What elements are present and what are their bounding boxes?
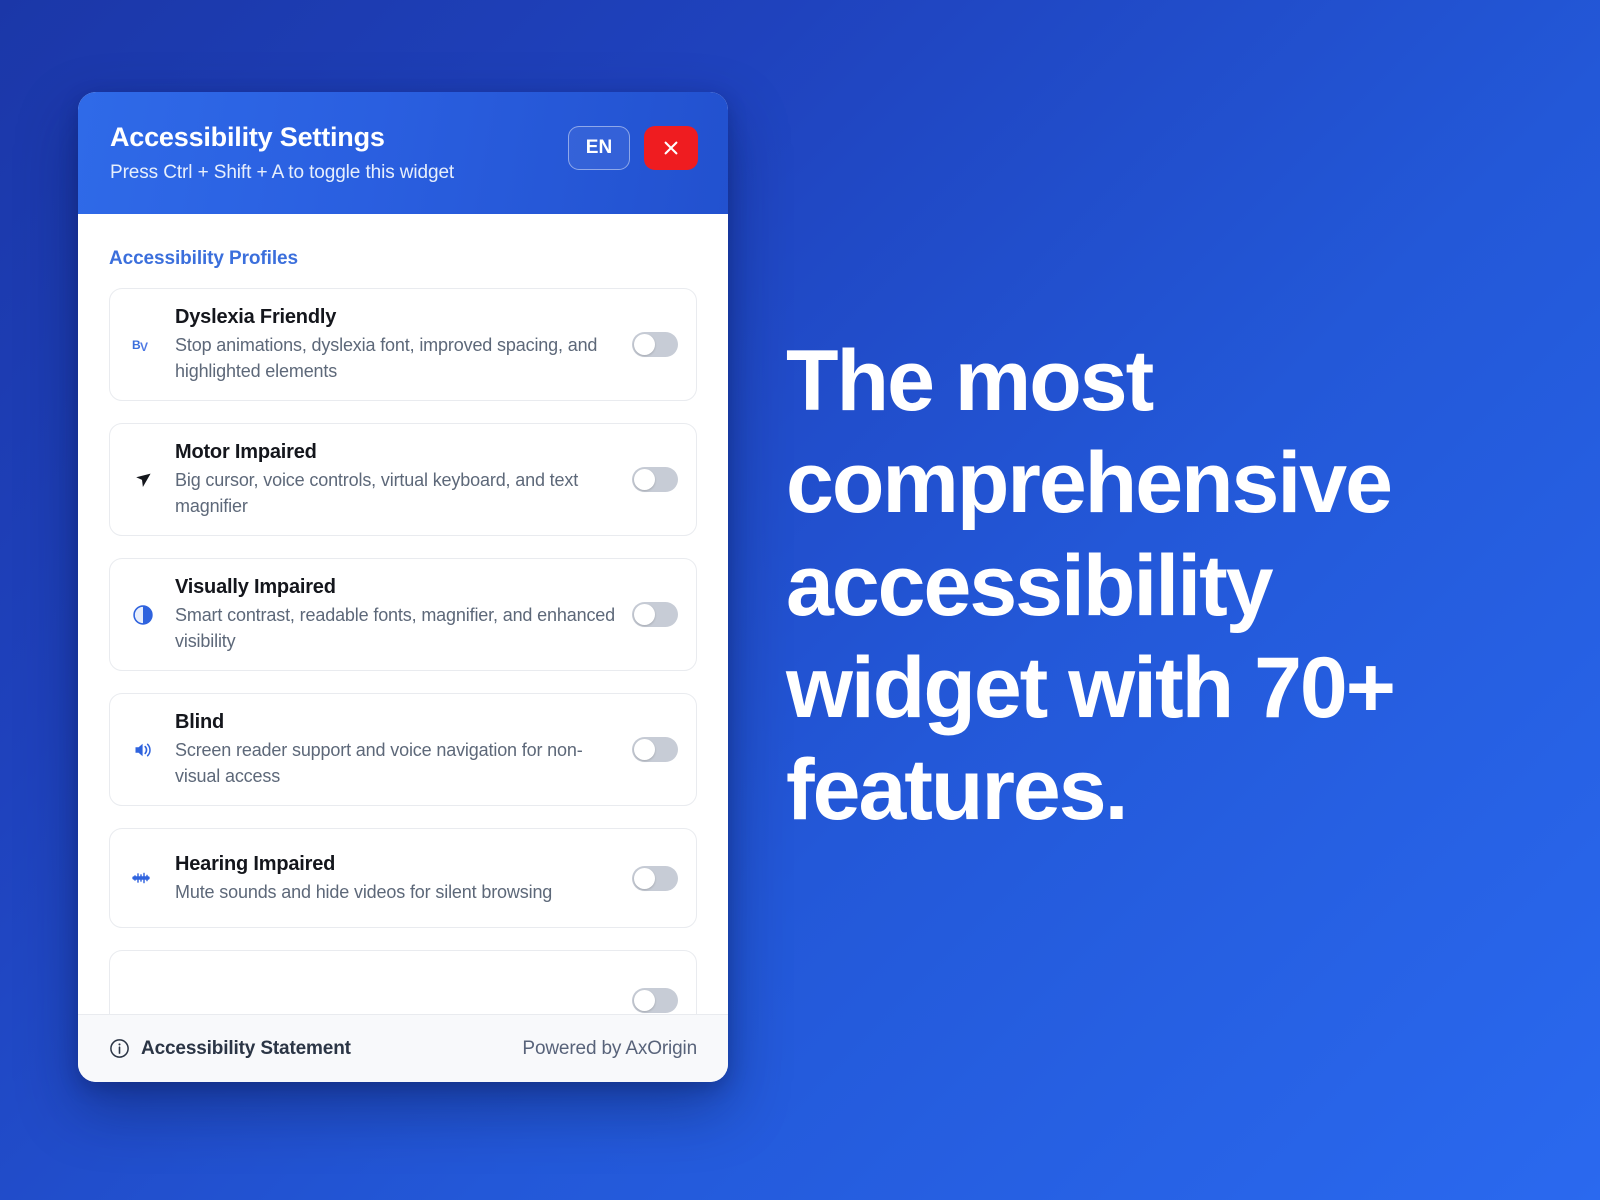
profile-toggle-dyslexia-friendly[interactable] — [632, 332, 678, 357]
widget-header-texts: Accessibility Settings Press Ctrl + Shif… — [110, 120, 454, 184]
toggle-knob — [634, 334, 655, 355]
speaker-volume-icon — [124, 731, 162, 769]
profile-card-hearing-impaired[interactable]: Hearing Impaired Mute sounds and hide vi… — [109, 828, 697, 928]
toggle-knob — [634, 990, 655, 1011]
powered-by-label: Powered by AxOrigin — [522, 1038, 697, 1060]
profile-card-partial[interactable] — [109, 950, 697, 1014]
profile-texts: Visually Impaired Smart contrast, readab… — [162, 575, 632, 654]
profile-description: Screen reader support and voice navigati… — [175, 738, 618, 789]
widget-header-actions: EN — [568, 120, 698, 170]
info-icon — [109, 1038, 130, 1059]
accessibility-widget: Accessibility Settings Press Ctrl + Shif… — [78, 92, 728, 1082]
profile-toggle-visually-impaired[interactable] — [632, 602, 678, 627]
accessibility-statement-label: Accessibility Statement — [141, 1038, 351, 1060]
close-icon — [661, 138, 681, 158]
contrast-circle-icon — [124, 596, 162, 634]
profile-name: Hearing Impaired — [175, 852, 618, 877]
svg-text:V: V — [140, 340, 148, 354]
profile-card-visually-impaired[interactable]: Visually Impaired Smart contrast, readab… — [109, 558, 697, 671]
profile-name: Visually Impaired — [175, 575, 618, 600]
profile-toggle-hearing-impaired[interactable] — [632, 866, 678, 891]
dyslexia-text-icon: B V — [124, 326, 162, 364]
profile-card-dyslexia-friendly[interactable]: B V Dyslexia Friendly Stop animations, d… — [109, 288, 697, 401]
toggle-knob — [634, 469, 655, 490]
language-button[interactable]: EN — [568, 126, 630, 170]
profile-texts: Dyslexia Friendly Stop animations, dysle… — [162, 305, 632, 384]
cursor-pointer-icon — [124, 461, 162, 499]
widget-body[interactable]: Accessibility Profiles B V Dyslexia Frie… — [78, 214, 728, 1014]
profile-description: Smart contrast, readable fonts, magnifie… — [175, 603, 618, 654]
section-title-profiles: Accessibility Profiles — [109, 214, 697, 288]
close-button[interactable] — [644, 126, 698, 170]
placeholder-icon — [124, 981, 162, 1014]
profile-description: Stop animations, dyslexia font, improved… — [175, 333, 618, 384]
profile-toggle-blind[interactable] — [632, 737, 678, 762]
toggle-knob — [634, 604, 655, 625]
profile-description: Big cursor, voice controls, virtual keyb… — [175, 468, 618, 519]
sound-waves-icon — [124, 859, 162, 897]
profile-name: Blind — [175, 710, 618, 735]
toggle-knob — [634, 739, 655, 760]
accessibility-statement-link[interactable]: Accessibility Statement — [109, 1038, 351, 1060]
widget-footer: Accessibility Statement Powered by AxOri… — [78, 1014, 728, 1082]
widget-title: Accessibility Settings — [110, 122, 454, 153]
widget-subtitle: Press Ctrl + Shift + A to toggle this wi… — [110, 162, 454, 184]
profile-texts: Blind Screen reader support and voice na… — [162, 710, 632, 789]
widget-header: Accessibility Settings Press Ctrl + Shif… — [78, 92, 728, 214]
profile-toggle-partial[interactable] — [632, 988, 678, 1013]
profile-texts: Hearing Impaired Mute sounds and hide vi… — [162, 852, 632, 906]
profile-texts: Motor Impaired Big cursor, voice control… — [162, 440, 632, 519]
profile-card-blind[interactable]: Blind Screen reader support and voice na… — [109, 693, 697, 806]
toggle-knob — [634, 868, 655, 889]
profile-name: Motor Impaired — [175, 440, 618, 465]
profile-toggle-motor-impaired[interactable] — [632, 467, 678, 492]
profile-card-motor-impaired[interactable]: Motor Impaired Big cursor, voice control… — [109, 423, 697, 536]
profile-name: Dyslexia Friendly — [175, 305, 618, 330]
profile-description: Mute sounds and hide videos for silent b… — [175, 880, 618, 906]
marketing-headline: The most comprehensive accessibility wid… — [786, 330, 1446, 842]
